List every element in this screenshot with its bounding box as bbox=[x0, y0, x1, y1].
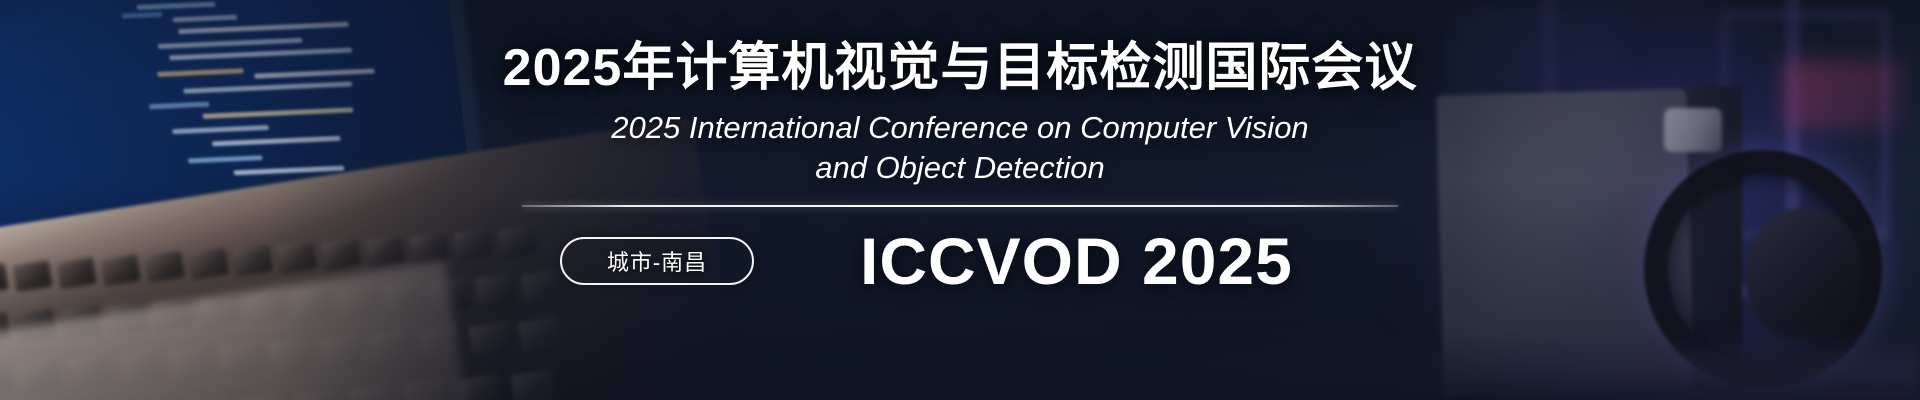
conference-banner: 2025年计算机视觉与目标检测国际会议 2025 International C… bbox=[0, 0, 1920, 400]
banner-bottom-row: 城市-南昌 ICCVOD 2025 bbox=[522, 237, 1398, 285]
conference-title-english: 2025 International Conference on Compute… bbox=[611, 108, 1308, 189]
banner-content: 2025年计算机视觉与目标检测国际会议 2025 International C… bbox=[0, 0, 1920, 400]
conference-title-english-line1: 2025 International Conference on Compute… bbox=[611, 108, 1308, 148]
horizontal-divider bbox=[522, 205, 1398, 207]
conference-title-chinese: 2025年计算机视觉与目标检测国际会议 bbox=[503, 40, 1418, 96]
conference-title-english-line2: and Object Detection bbox=[611, 148, 1308, 188]
conference-acronym: ICCVOD 2025 bbox=[860, 228, 1293, 294]
city-badge: 城市-南昌 bbox=[560, 237, 754, 285]
